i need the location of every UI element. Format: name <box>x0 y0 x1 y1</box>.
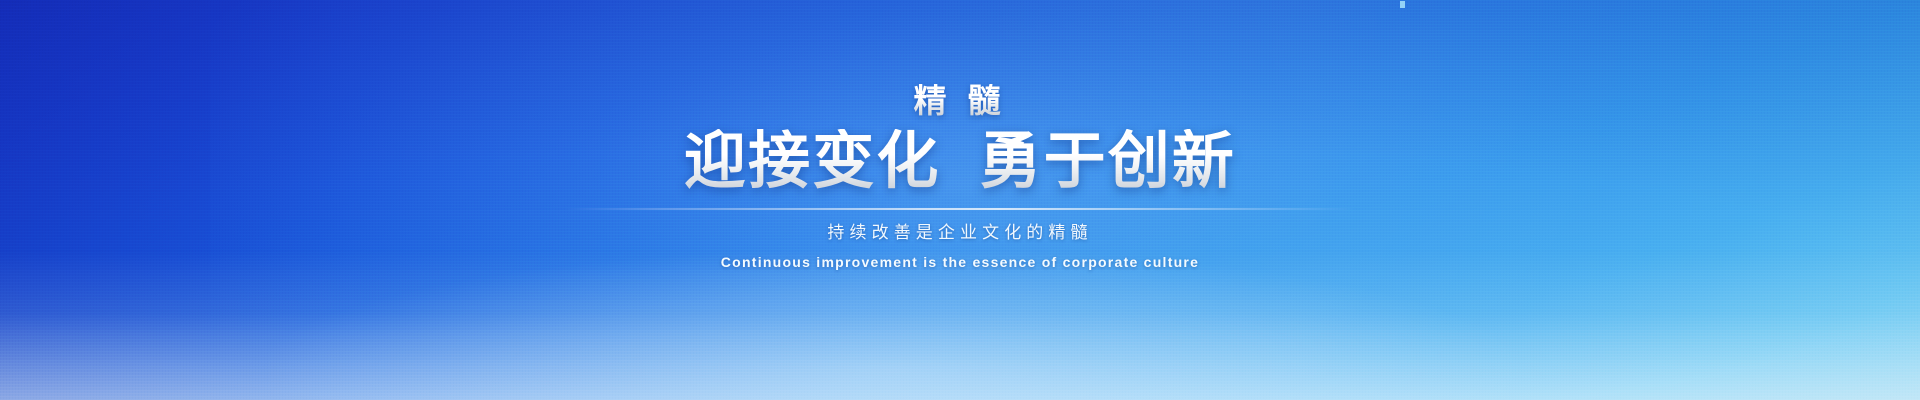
banner-divider <box>565 208 1355 210</box>
banner-text-block: 精 髓 迎接变化 勇于创新 持续改善是企业文化的精髓 Continuous im… <box>0 0 1920 400</box>
banner-headline: 迎接变化 勇于创新 <box>684 129 1236 194</box>
banner-subtitle-english: Continuous improvement is the essence of… <box>721 255 1199 269</box>
banner-hero: 精 髓 迎接变化 勇于创新 持续改善是企业文化的精髓 Continuous im… <box>0 0 1920 400</box>
banner-subtitle-chinese: 持续改善是企业文化的精髓 <box>827 224 1092 241</box>
banner-eyebrow: 精 髓 <box>914 84 1007 117</box>
